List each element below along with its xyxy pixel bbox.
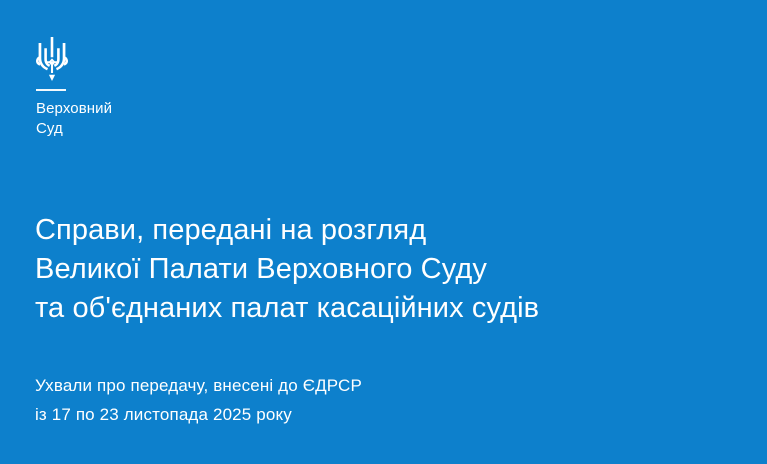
page-title-line-1: Справи, передані на розгляд: [35, 211, 735, 250]
page-title: Справи, передані на розгляд Великої Пала…: [35, 211, 735, 328]
page-subtitle-line-1: Ухвали про передачу, внесені до ЄДРСР: [35, 371, 735, 400]
page-subtitle: Ухвали про передачу, внесені до ЄДРСР із…: [35, 371, 735, 429]
brand-name: Верховний Суд: [36, 99, 236, 139]
brand-divider: [36, 89, 66, 91]
brand-block: Верховний Суд: [36, 36, 236, 139]
page-title-line-2: Великої Палати Верховного Суду: [35, 250, 735, 289]
page-subtitle-date-range: із 17 по 23 листопада 2025 року: [35, 400, 735, 429]
title-card: Верховний Суд Справи, передані на розгля…: [0, 0, 767, 464]
ukrainian-trident-icon: [36, 36, 68, 82]
page-title-line-3: та об'єднаних палат касаційних судів: [35, 289, 735, 328]
